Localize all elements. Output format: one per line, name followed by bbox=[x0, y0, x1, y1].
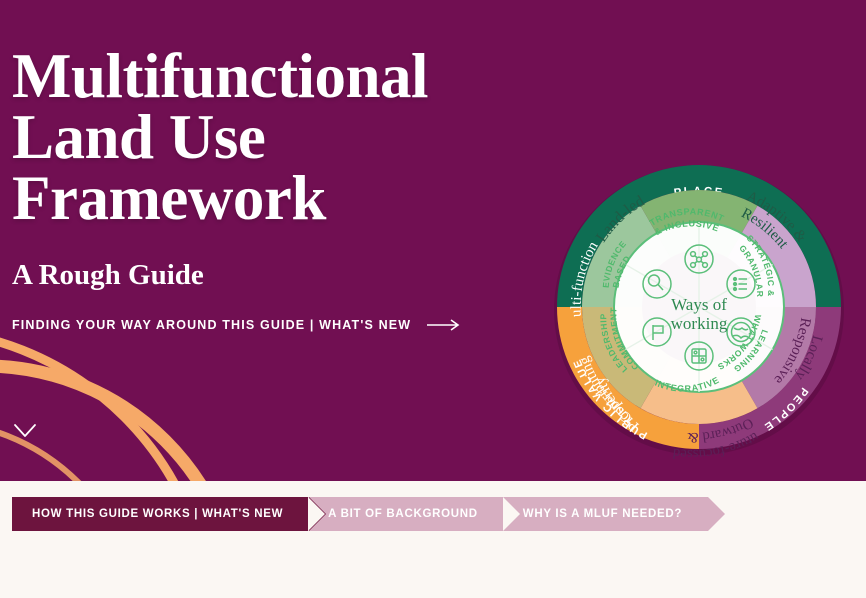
breadcrumb-item-label: WHY IS A MLUF NEEDED? bbox=[523, 508, 682, 520]
page-subtitle: A Rough Guide bbox=[12, 259, 552, 292]
wheel-center-label-line1: Ways of bbox=[671, 295, 727, 314]
chevron-down-icon[interactable] bbox=[12, 421, 38, 441]
hero-section: Multifunctional Land Use Framework A Rou… bbox=[0, 0, 866, 481]
breadcrumb-item-label: A BIT OF BACKGROUND bbox=[328, 508, 478, 520]
hero-text-block: Multifunctional Land Use Framework A Rou… bbox=[12, 46, 552, 334]
breadcrumb: HOW THIS GUIDE WORKS | WHAT'S NEW A BIT … bbox=[0, 481, 866, 545]
wheel-center-label-line2: working bbox=[671, 314, 728, 333]
finding-your-way-link-label: FINDING YOUR WAY AROUND THIS GUIDE | WHA… bbox=[12, 318, 411, 332]
breadcrumb-item-a-bit-of-background[interactable]: A BIT OF BACKGROUND bbox=[308, 497, 504, 531]
mluf-framework-wheel-diagram[interactable]: PLACE PEOPLE PUBLIC VALUE bbox=[527, 134, 866, 480]
long-right-arrow-icon bbox=[427, 319, 461, 331]
breadcrumb-item-label: HOW THIS GUIDE WORKS | WHAT'S NEW bbox=[32, 508, 283, 520]
finding-your-way-link[interactable]: FINDING YOUR WAY AROUND THIS GUIDE | WHA… bbox=[12, 318, 461, 332]
breadcrumb-item-why-is-a-mluf-needed[interactable]: WHY IS A MLUF NEEDED? bbox=[503, 497, 708, 531]
page-root: Multifunctional Land Use Framework A Rou… bbox=[0, 0, 866, 598]
page-title: Multifunctional Land Use Framework bbox=[12, 46, 552, 229]
page-content-area bbox=[0, 545, 866, 598]
breadcrumb-item-how-this-guide-works[interactable]: HOW THIS GUIDE WORKS | WHAT'S NEW bbox=[12, 497, 309, 531]
